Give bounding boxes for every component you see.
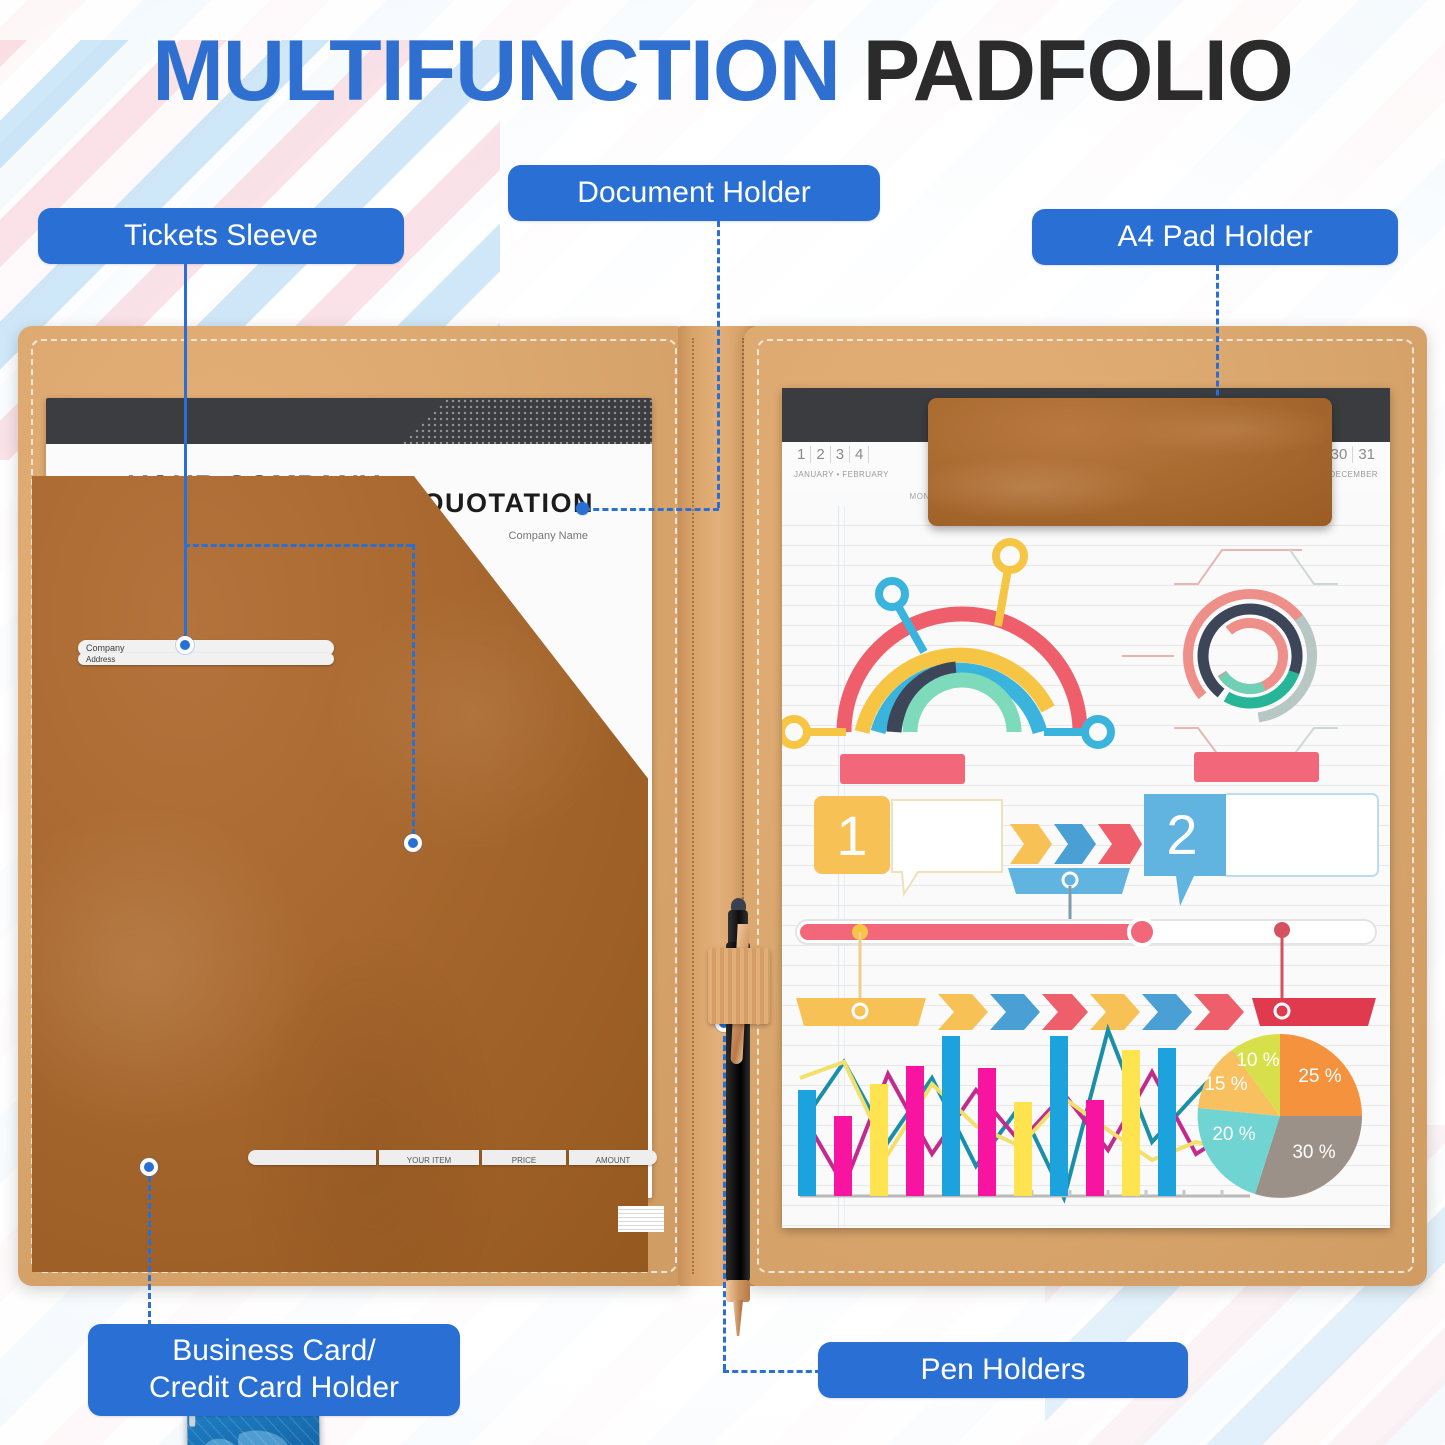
step-1-callout: 1 xyxy=(814,796,1002,894)
padfolio-left-panel: YOUR COMPANY QUOTATION Company Name Comp… xyxy=(18,326,690,1286)
pie-label-25: 25 % xyxy=(1298,1066,1341,1087)
step-2-callout: 2 xyxy=(1144,794,1378,906)
infographic-svg: 1 2 xyxy=(782,506,1390,1228)
pie-label-10: 10 % xyxy=(1236,1050,1279,1071)
document-header-bar xyxy=(46,398,652,444)
arc-chart xyxy=(844,614,1080,732)
anchor-dot-tickets-sleeve xyxy=(176,636,194,654)
callout-label: Pen Holders xyxy=(920,1352,1085,1387)
pen-writing-tip xyxy=(733,1300,743,1336)
document-table-sliver: YOUR ITEM PRICE AMOUNT xyxy=(248,1150,657,1165)
chevron-row-top xyxy=(1010,824,1142,864)
leader-document-holder-h xyxy=(584,508,719,511)
bar xyxy=(1122,1050,1140,1196)
pie-label-20: 20 % xyxy=(1212,1124,1255,1145)
document-heading: QUOTATION xyxy=(423,488,594,519)
leader-tickets-sleeve-h xyxy=(184,544,412,547)
leader-tickets-sleeve-v3 xyxy=(184,544,187,644)
table-header-price: PRICE xyxy=(482,1150,566,1165)
callout-label-line1: Business Card/ xyxy=(172,1333,375,1370)
bar xyxy=(1158,1048,1176,1196)
spine-stitching-left xyxy=(692,338,694,1274)
product-infographic: MULTIFUNCTION PADFOLIO YOUR COMPANY QUOT… xyxy=(0,0,1445,1445)
cal-num: 31 xyxy=(1353,446,1380,463)
callout-label: A4 Pad Holder xyxy=(1117,219,1312,254)
leader-tickets-sleeve-v xyxy=(184,264,187,544)
step-1-number: 1 xyxy=(836,804,867,867)
cal-num: 1 xyxy=(792,446,811,463)
leader-pen-holders-h xyxy=(723,1370,821,1373)
donut-chart-brackets xyxy=(1122,550,1338,760)
document-halftone-pattern xyxy=(402,398,652,444)
title-part-multifunction: MULTIFUNCTION xyxy=(152,23,840,119)
pen-holder-loop[interactable] xyxy=(708,948,770,1024)
pen-grip-ring xyxy=(726,1280,750,1302)
card-holder-clip-top xyxy=(189,1415,195,1427)
leader-business-card-v xyxy=(148,1176,151,1326)
bar xyxy=(870,1084,888,1196)
callout-a4-pad-holder[interactable]: A4 Pad Holder xyxy=(1032,209,1398,265)
pie-label-15: 15 % xyxy=(1204,1074,1247,1095)
callout-label-line2: Credit Card Holder xyxy=(149,1370,399,1407)
table-header-item: YOUR ITEM xyxy=(379,1150,479,1165)
leader-tickets-sleeve-v2 xyxy=(412,544,415,844)
cal-num: 4 xyxy=(850,446,869,463)
callout-tickets-sleeve[interactable]: Tickets Sleeve xyxy=(38,208,404,264)
cal-num: 3 xyxy=(831,446,850,463)
bar xyxy=(1014,1102,1032,1196)
bar xyxy=(978,1068,996,1196)
bar xyxy=(942,1036,960,1196)
step-2-number: 2 xyxy=(1166,803,1197,866)
bar xyxy=(1050,1036,1068,1196)
a4-pad-holder-clip[interactable] xyxy=(928,398,1332,526)
padfolio-right-panel: 1 2 3 4 28 29 30 31 JANUARY • FEBRUARY N… xyxy=(744,326,1427,1286)
pie-chart: 25 % 30 % 20 % 15 % 10 % xyxy=(1198,1034,1362,1198)
pad-clip-texture xyxy=(928,398,1332,526)
badge-right xyxy=(1194,752,1319,782)
pie-label-30: 30 % xyxy=(1292,1142,1335,1163)
callout-label: Document Holder xyxy=(577,175,810,210)
callout-business-card-holder[interactable]: Business Card/ Credit Card Holder xyxy=(88,1324,460,1416)
leader-document-holder-v xyxy=(717,221,720,508)
arc-chart-connectors xyxy=(782,542,1111,745)
callout-pen-holders[interactable]: Pen Holders xyxy=(818,1342,1188,1398)
paper-stack-edge xyxy=(618,1206,664,1232)
anchor-dot-business-card xyxy=(140,1158,158,1176)
cal-num: 2 xyxy=(811,446,830,463)
donut-chart xyxy=(1163,569,1338,744)
months-left: JANUARY • FEBRUARY xyxy=(794,470,889,479)
badge-left xyxy=(840,754,965,784)
page-title: MULTIFUNCTION PADFOLIO xyxy=(0,28,1445,114)
document-address-sliver-2: Address xyxy=(78,653,334,665)
bar xyxy=(1086,1100,1104,1196)
callout-document-holder[interactable]: Document Holder xyxy=(508,165,880,221)
bar xyxy=(834,1116,852,1196)
document-subtext: Company Name xyxy=(509,530,588,542)
bar xyxy=(798,1090,816,1196)
title-part-padfolio: PADFOLIO xyxy=(863,23,1293,119)
bottom-bar-left xyxy=(796,932,926,1026)
callout-label: Tickets Sleeve xyxy=(124,218,318,253)
bar xyxy=(906,1066,924,1196)
table-header-amount: AMOUNT xyxy=(569,1150,657,1165)
bar-chart xyxy=(798,1036,1250,1196)
anchor-dot-tickets-sleeve-2 xyxy=(404,834,422,852)
a4-notepad: 1 2 3 4 28 29 30 31 JANUARY • FEBRUARY N… xyxy=(782,388,1390,1228)
anchor-dot-document-holder xyxy=(576,502,589,515)
notepad-infographics: 1 2 xyxy=(782,506,1390,1228)
chevron-row-bottom xyxy=(938,994,1244,1030)
